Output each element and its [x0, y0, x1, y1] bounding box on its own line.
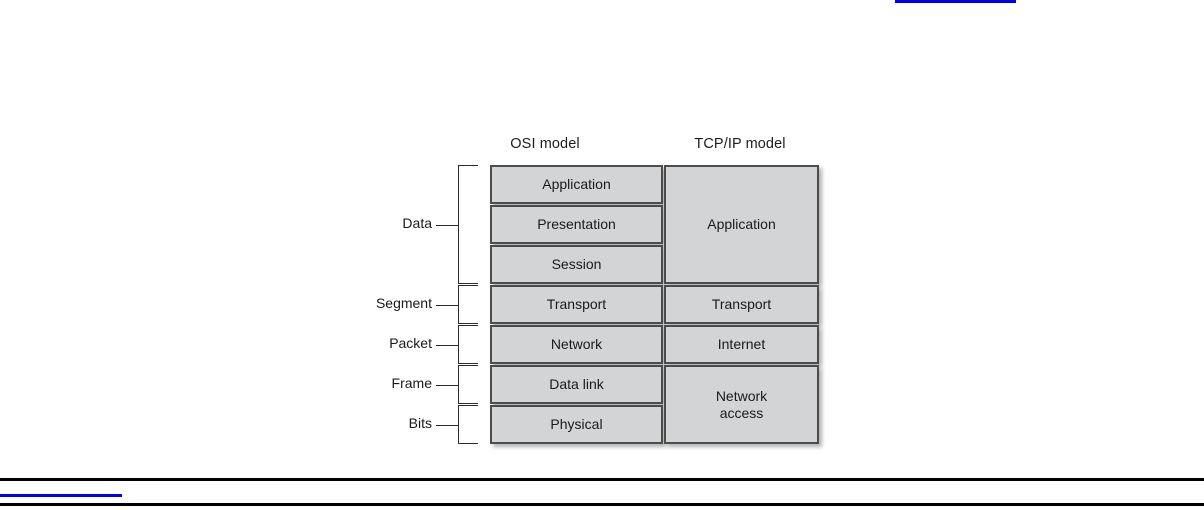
osi-layer-physical: Physical [490, 405, 663, 444]
bracket-tick-data [436, 225, 458, 226]
data-unit-label-frame: Frame [370, 375, 432, 391]
top-hyperlink[interactable] [895, 0, 1016, 3]
data-unit-label-packet: Packet [370, 335, 432, 351]
bracket-tick-segment [436, 305, 458, 306]
osi-layer-presentation: Presentation [490, 205, 663, 244]
osi-layer-application: Application [490, 165, 663, 204]
osi-layer-network: Network [490, 325, 663, 364]
osi-tcpip-diagram: OSI model TCP/IP model DataSegmentPacket… [370, 130, 840, 460]
tcpip-layer-application: Application [664, 165, 819, 284]
tcpip-layer-internet: Internet [664, 325, 819, 364]
bracket-frame [458, 365, 478, 404]
tcpip-layer-network-access: Network access [664, 365, 819, 444]
osi-layer-session: Session [490, 245, 663, 284]
bracket-tick-packet [436, 345, 458, 346]
data-unit-label-bits: Bits [370, 415, 432, 431]
osi-layer-transport: Transport [490, 285, 663, 324]
bracket-segment [458, 285, 478, 324]
bracket-packet [458, 325, 478, 364]
bracket-data [458, 165, 478, 284]
column-header-tcpip: TCP/IP model [655, 136, 825, 152]
horizontal-rule-lower [0, 503, 1204, 506]
bracket-tick-frame [436, 385, 458, 386]
bracket-bits [458, 405, 478, 444]
column-header-osi: OSI model [455, 136, 635, 152]
horizontal-rule-upper [0, 478, 1204, 481]
osi-layer-data-link: Data link [490, 365, 663, 404]
bottom-hyperlink[interactable] [0, 494, 122, 497]
bracket-tick-bits [436, 425, 458, 426]
data-unit-label-data: Data [370, 215, 432, 231]
tcpip-layer-transport: Transport [664, 285, 819, 324]
data-unit-label-segment: Segment [370, 295, 432, 311]
